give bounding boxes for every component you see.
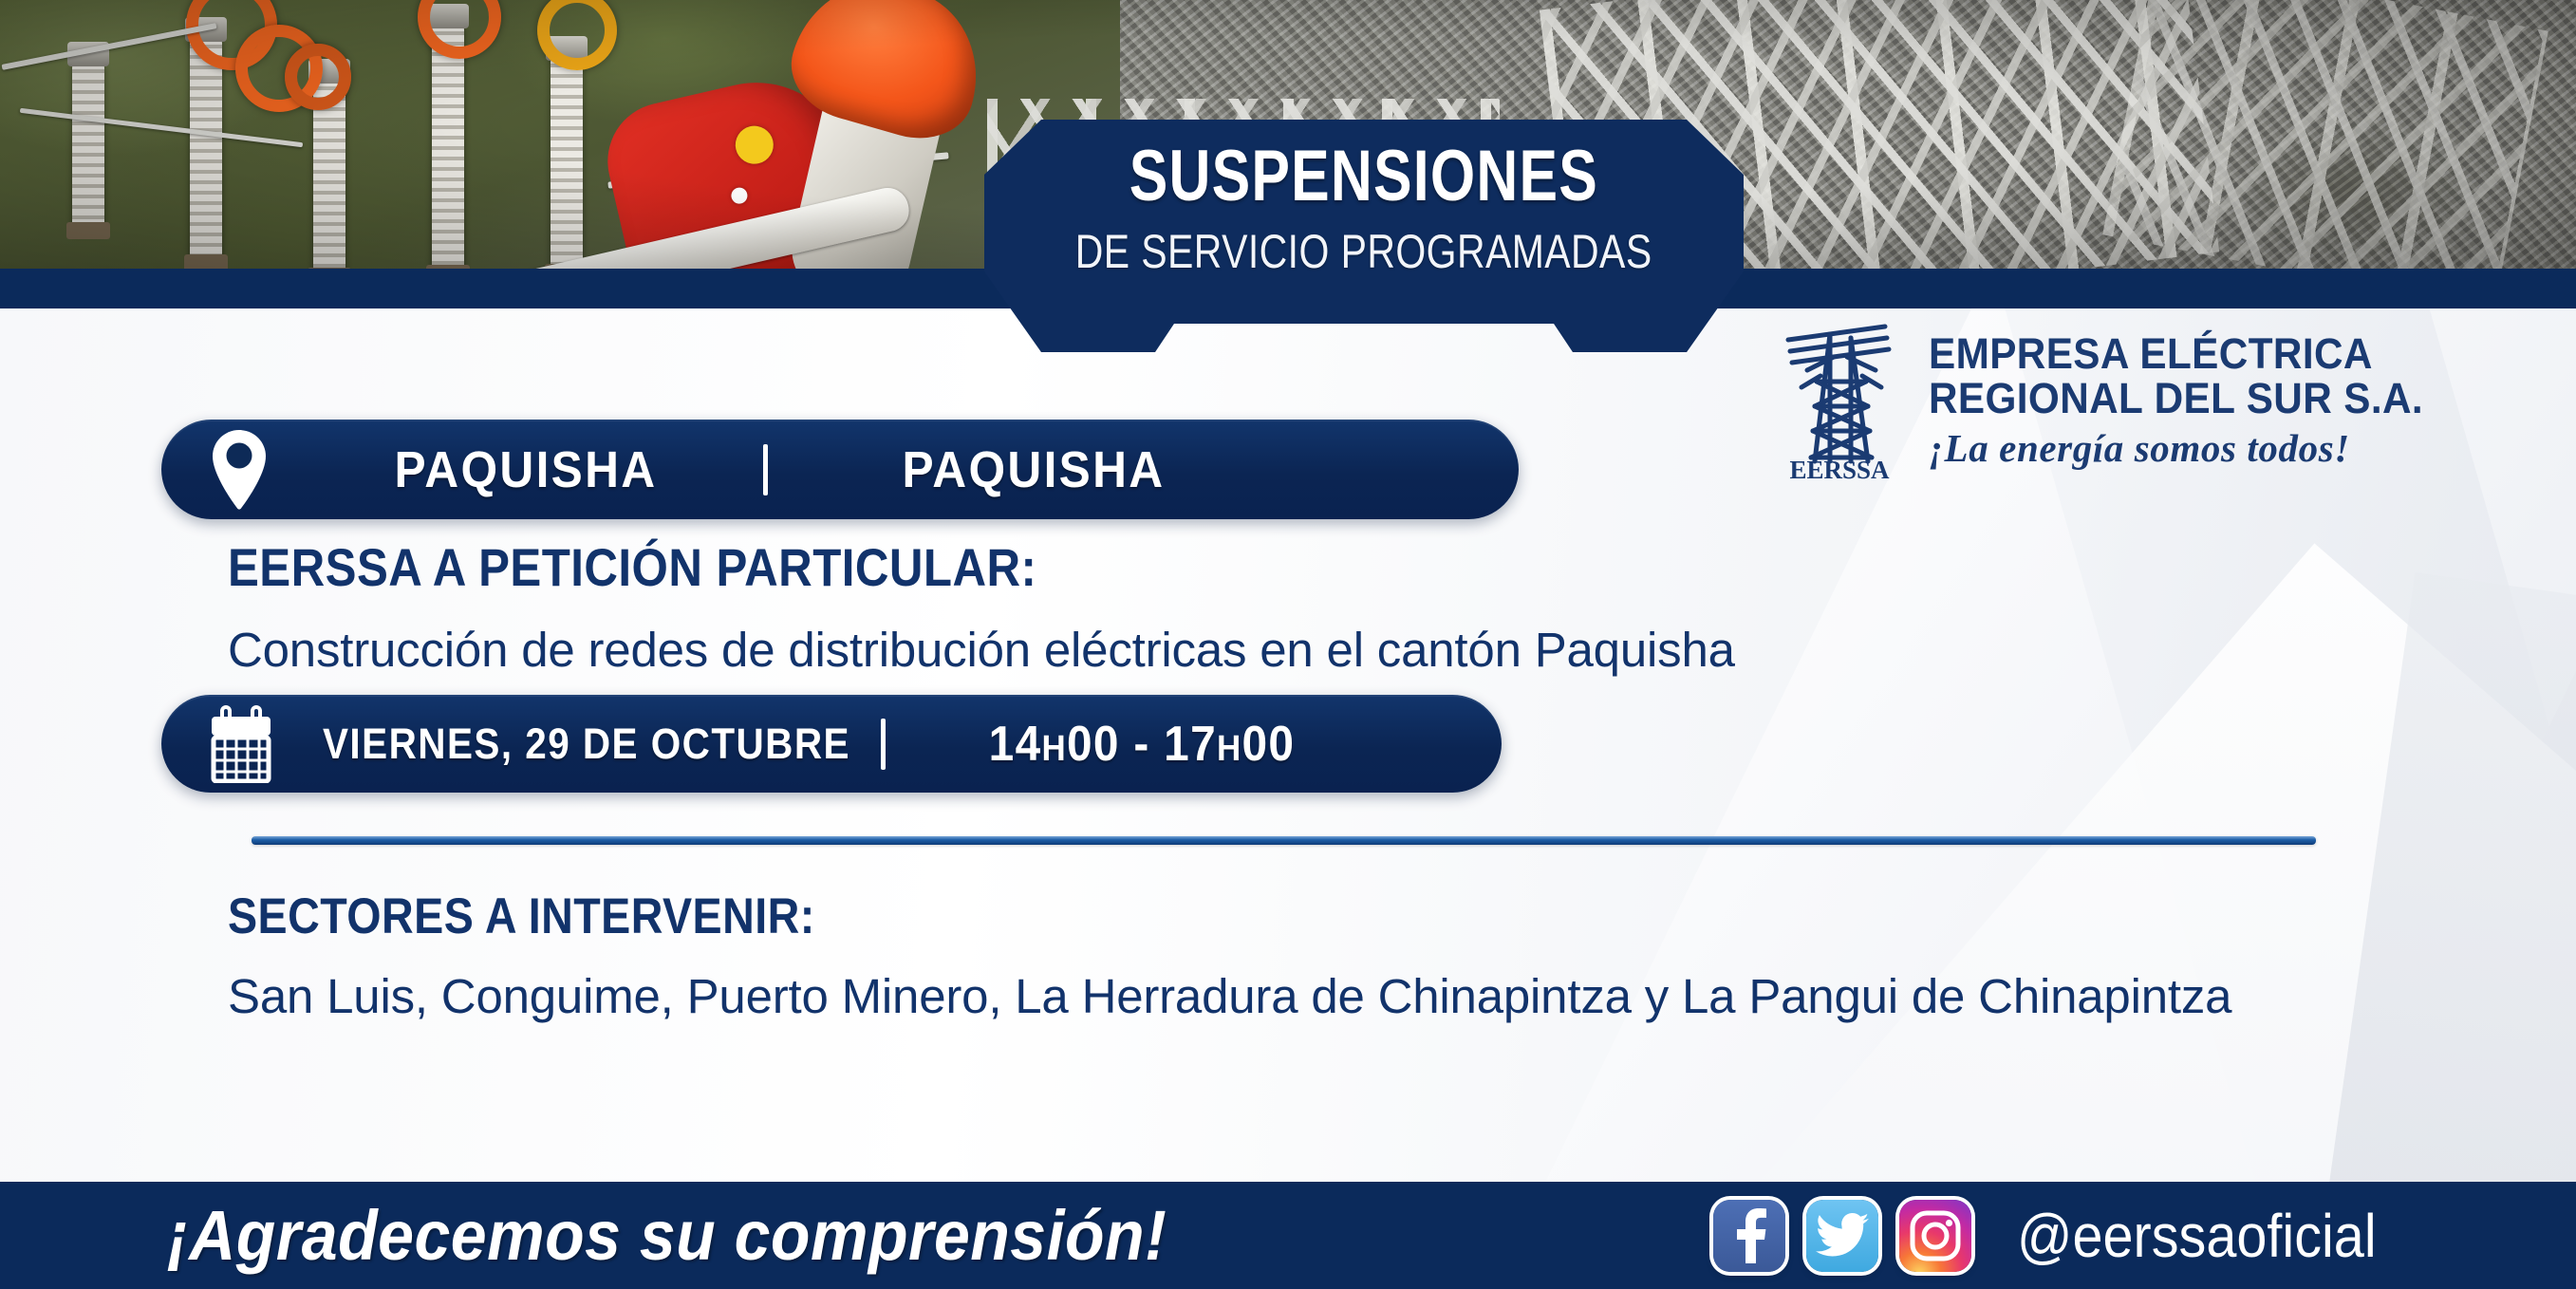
section-divider [252,836,2316,845]
time-separator: - [1120,717,1164,772]
map-pin-icon [190,429,289,511]
time-start-min: 00 [1067,717,1120,772]
location-canton: PAQUISHA [308,440,744,499]
page-subtitle: DE SERVICIO PROGRAMADAS [1075,228,1652,275]
header-banner: SUSPENSIONES DE SERVICIO PROGRAMADAS [984,120,1744,352]
time-start: 14 [989,717,1042,772]
schedule-pill: VIERNES, 29 DE OCTUBRE 14H00 - 17H00 [161,695,1502,793]
sectors-heading: SECTORES A INTERVENIR: [228,887,815,945]
pill-separator [881,719,886,770]
transmission-tower-icon: EERSSA [1773,319,1906,482]
time-start-unit: H [1041,729,1067,769]
pill-separator [763,444,768,495]
time-end-unit: H [1217,729,1242,769]
schedule-date: VIERNES, 29 DE OCTUBRE [322,719,851,769]
instagram-icon[interactable] [1899,1200,1971,1272]
location-pill: PAQUISHA PAQUISHA [161,420,1519,519]
schedule-time: 14H00 - 17H00 [906,716,1378,773]
logo-line-1: EMPRESA ELÉCTRICA [1929,332,2423,377]
sectors-list: San Luis, Conguime, Puerto Minero, La He… [228,968,2231,1024]
calendar-icon [190,705,292,783]
social-links: @eerssaoficial [1713,1200,2417,1272]
time-end: 17 [1164,717,1217,772]
suspension-notice-poster: SUSPENSIONES DE SERVICIO PROGRAMADAS [0,0,2576,1289]
social-handle[interactable]: @eerssaoficial [2017,1201,2377,1271]
logo-mark-text: EERSSA [1789,456,1890,482]
footer-slogan: ¡Agradecemos su comprensión! [167,1195,1167,1276]
logo-line-2: REGIONAL DEL SUR S.A. [1929,377,2423,421]
eerssa-logo: EERSSA EMPRESA ELÉCTRICA REGIONAL DEL SU… [1773,319,2455,482]
logo-slogan: ¡La energía somos todos! [1929,428,2455,469]
facebook-icon[interactable] [1713,1200,1785,1272]
footer-bar: ¡Agradecemos su comprensión! @eerssao [0,1182,2576,1289]
location-parish: PAQUISHA [789,440,1278,499]
twitter-icon[interactable] [1806,1200,1878,1272]
logo-wordmark: EMPRESA ELÉCTRICA REGIONAL DEL SUR S.A. … [1929,332,2455,469]
reason-heading: EERSSA A PETICIÓN PARTICULAR: [228,536,1036,598]
page-title: SUSPENSIONES [1129,140,1598,213]
time-end-min: 00 [1242,717,1296,772]
reason-description: Construcción de redes de distribución el… [228,622,1735,678]
